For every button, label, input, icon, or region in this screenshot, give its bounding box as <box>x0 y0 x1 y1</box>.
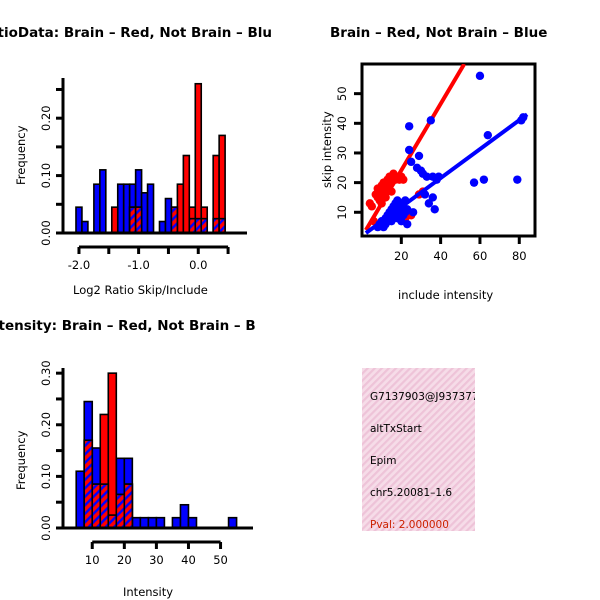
scatter-point-blue <box>407 158 415 166</box>
scatter-ytick-label: 20 <box>335 175 349 190</box>
hist-intensity-bar-overlap <box>108 515 116 528</box>
scatter-point-blue <box>401 196 409 204</box>
scatter-ytick-label: 10 <box>335 205 349 220</box>
info-box-line: chr5.20081–1.6 <box>370 487 452 499</box>
scatter-ytick-label: 40 <box>335 116 349 131</box>
info-box-line: G7137903@J937377_RC <box>370 391 498 403</box>
hist-ratio-ytick-label: 0.00 <box>39 220 53 246</box>
hist-ratio-xtick-label: -1.0 <box>127 258 149 272</box>
hist-ratio-bar-blue <box>124 184 130 233</box>
hist-ratio-bar-blue <box>76 207 82 233</box>
hist-intensity-bar-blue <box>229 518 237 528</box>
hist-intensity-xtick-label: 20 <box>117 553 132 567</box>
panel-info-box: G7137903@J937377_RCaltTxStartEpimchr5.20… <box>300 300 600 600</box>
scatter-point-blue <box>421 190 429 198</box>
hist-intensity-axes: 0.000.100.200.301020304050 <box>39 360 253 567</box>
scatter-point-blue <box>484 131 492 139</box>
hist-ratio-bar-overlap <box>213 219 219 233</box>
hist-intensity-bar-overlap <box>124 484 132 528</box>
scatter-point-blue <box>476 72 484 80</box>
scatter-point-blue <box>415 152 423 160</box>
hist-intensity-bar-overlap <box>100 484 108 528</box>
scatter-point-blue <box>429 193 437 201</box>
hist-ratio-bar-blue <box>118 184 124 233</box>
hist-ratio-bar-blue <box>142 193 148 233</box>
hist-ratio-bar-blue <box>94 184 100 233</box>
scatter-point-blue <box>434 172 442 180</box>
hist-ratio-bar-red <box>195 84 201 233</box>
hist-intensity-bar-overlap <box>92 484 100 528</box>
hist-intensity-bar-blue <box>172 518 180 528</box>
scatter-xtick-label: 40 <box>433 249 448 263</box>
hist-ratio-plot: 0.000.100.20-2.0-1.00.0 <box>0 0 300 300</box>
hist-ratio-xtick-label: -2.0 <box>68 258 90 272</box>
scatter-point-red <box>399 175 407 183</box>
panel-scatter: Brain – Red, Not Brain – Blue skip inten… <box>300 0 600 300</box>
hist-intensity-bar-overlap <box>84 440 92 528</box>
hist-ratio-ytick-label: 0.20 <box>39 105 53 131</box>
hist-intensity-bar-blue <box>140 518 148 528</box>
figure-canvas: RatioData: Brain – Red, Not Brain – Blu … <box>0 0 600 600</box>
hist-ratio-bars <box>76 84 225 233</box>
scatter-point-blue <box>405 122 413 130</box>
hist-ratio-bar-blue <box>82 222 88 233</box>
scatter-point-blue <box>427 116 435 124</box>
scatter-xtick-label: 20 <box>394 249 409 263</box>
scatter-point-red <box>368 202 376 210</box>
hist-intensity-xtick-label: 30 <box>149 553 164 567</box>
hist-ratio-bar-blue <box>165 199 171 233</box>
hist-ratio-bar-blue <box>159 222 165 233</box>
hist-intensity-ytick-label: 0.10 <box>39 464 53 490</box>
scatter-fit-line <box>366 64 464 230</box>
scatter-plot: 102030405020406080 <box>300 0 600 300</box>
hist-intensity-xtick-label: 50 <box>213 553 228 567</box>
hist-ratio-ytick-label: 0.10 <box>39 163 53 189</box>
info-box-line: altTxStart <box>370 423 422 435</box>
hist-intensity-bar-blue <box>156 518 164 528</box>
scatter-point-blue <box>403 220 411 228</box>
hist-ratio-bar-red <box>183 156 189 234</box>
panel-hist-intensity: ne Itensity: Brain – Red, Not Brain – B … <box>0 300 300 600</box>
scatter-point-blue <box>513 175 521 183</box>
scatter-xtick-label: 80 <box>512 249 527 263</box>
info-box-pval: Pval: 2.000000 <box>370 519 449 531</box>
hist-intensity-xtick-label: 40 <box>181 553 196 567</box>
hist-ratio-bar-overlap <box>171 207 177 233</box>
scatter-xtick-label: 60 <box>473 249 488 263</box>
info-box-line: Epim <box>370 455 396 467</box>
scatter-point-blue <box>409 208 417 216</box>
hist-ratio-bar-overlap <box>189 219 195 233</box>
hist-intensity-bar-red <box>108 373 116 528</box>
hist-ratio-bar-overlap <box>136 207 142 233</box>
panel-hist-ratio: RatioData: Brain – Red, Not Brain – Blu … <box>0 0 300 300</box>
scatter-point-blue <box>405 146 413 154</box>
scatter-ytick-label: 30 <box>335 146 349 161</box>
info-box-graphic: G7137903@J937377_RCaltTxStartEpimchr5.20… <box>300 300 600 600</box>
hist-intensity-xtick-label: 10 <box>85 553 100 567</box>
hist-ratio-bar-overlap <box>201 219 207 233</box>
hist-intensity-ytick-label: 0.20 <box>39 412 53 438</box>
hist-ratio-bar-red <box>112 207 118 233</box>
scatter-point-blue <box>470 178 478 186</box>
hist-intensity-bar-blue <box>180 505 188 528</box>
hist-ratio-bar-blue <box>148 184 154 233</box>
hist-ratio-bar-overlap <box>195 219 201 233</box>
hist-intensity-bars <box>76 373 236 528</box>
hist-ratio-xtick-label: 0.0 <box>189 258 207 272</box>
hist-intensity-plot: 0.000.100.200.301020304050 <box>0 300 300 600</box>
hist-ratio-bar-overlap <box>130 207 136 233</box>
hist-intensity-bar-blue <box>148 518 156 528</box>
scatter-ytick-label: 50 <box>335 86 349 101</box>
hist-intensity-ytick-label: 0.00 <box>39 515 53 541</box>
hist-intensity-bar-blue <box>132 518 140 528</box>
scatter-content <box>366 64 528 233</box>
hist-intensity-bar-blue <box>188 518 196 528</box>
hist-ratio-bar-overlap <box>219 219 225 233</box>
scatter-point-blue <box>519 113 527 121</box>
hist-intensity-bar-blue <box>76 471 84 528</box>
hist-intensity-ytick-label: 0.30 <box>39 360 53 386</box>
hist-intensity-bar-overlap <box>116 494 124 528</box>
hist-ratio-bar-red <box>177 184 183 233</box>
scatter-point-blue <box>431 205 439 213</box>
hist-ratio-bar-blue <box>100 170 106 233</box>
scatter-point-blue <box>480 175 488 183</box>
